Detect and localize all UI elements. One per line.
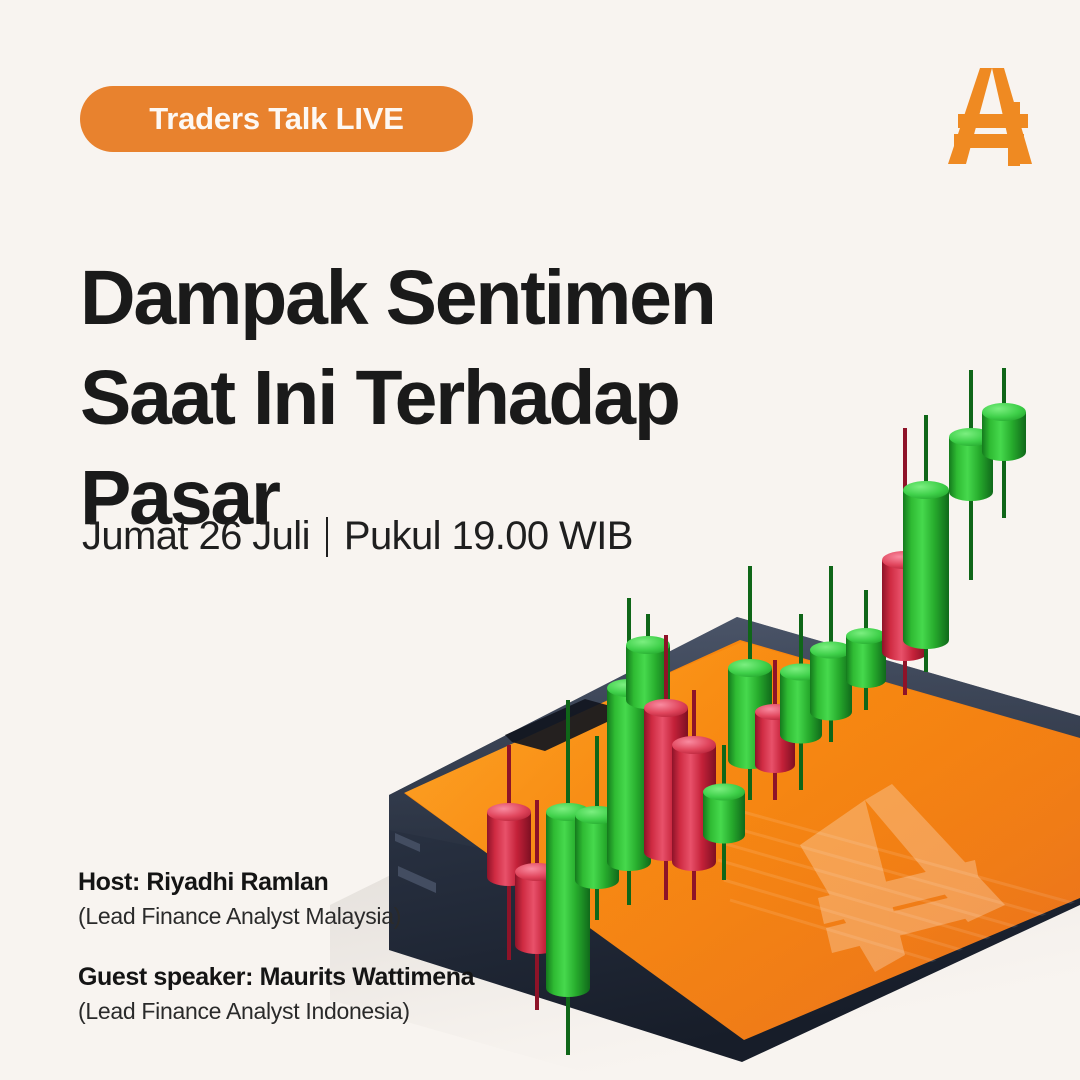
live-badge[interactable]: Traders Talk LIVE	[80, 86, 473, 152]
candle-14-bullish	[846, 590, 886, 710]
candle-15-bearish	[882, 428, 928, 695]
candle-11-bearish	[755, 660, 795, 800]
candle-10-bullish	[728, 566, 772, 800]
candle-3-bullish	[546, 700, 590, 1055]
live-badge-label: Traders Talk LIVE	[149, 101, 403, 137]
candle-8-bearish	[672, 690, 716, 900]
host-role: (Lead Finance Analyst Malaysia)	[78, 900, 474, 933]
candle-17-bullish	[949, 370, 993, 580]
promo-poster: Traders Talk LIVE Dampak Sentimen Saat I…	[0, 0, 1080, 1080]
headline-line-2: Saat Ini Terhadap	[80, 348, 840, 448]
candle-16-bullish	[903, 415, 949, 672]
guest-name: Guest speaker: Maurits Wattimena	[78, 961, 474, 995]
event-date: Jumat 26 Juli	[82, 514, 310, 559]
candle-12-bullish	[780, 614, 822, 790]
brand-a-watermark-icon	[800, 784, 1005, 972]
candle-6-bullish	[626, 614, 670, 790]
speaker-credits: Host: Riyadhi Ramlan (Lead Finance Analy…	[78, 866, 474, 1028]
candle-2-bearish	[515, 800, 559, 1010]
guest-role: (Lead Finance Analyst Indonesia)	[78, 995, 474, 1028]
brand-a-currency-logo-icon	[942, 62, 1038, 170]
candle-7-bearish	[644, 635, 688, 900]
candle-13-bullish	[810, 566, 852, 742]
candle-9-bullish	[703, 745, 745, 880]
smartphone	[389, 617, 1080, 1062]
headline-line-1: Dampak Sentimen	[80, 248, 840, 348]
candle-18-bullish	[982, 368, 1026, 518]
candle-1-bearish	[487, 745, 531, 960]
guest-credit: Guest speaker: Maurits Wattimena (Lead F…	[78, 961, 474, 1028]
event-time: Pukul 19.00 WIB	[344, 514, 633, 559]
datetime-separator	[326, 517, 328, 557]
host-name: Host: Riyadhi Ramlan	[78, 866, 474, 900]
page-title: Dampak Sentimen Saat Ini Terhadap Pasar	[80, 248, 840, 548]
host-credit: Host: Riyadhi Ramlan (Lead Finance Analy…	[78, 866, 474, 933]
candle-4-bullish	[575, 736, 619, 920]
event-datetime: Jumat 26 Juli Pukul 19.00 WIB	[82, 514, 633, 559]
candle-5-bullish	[607, 598, 651, 905]
